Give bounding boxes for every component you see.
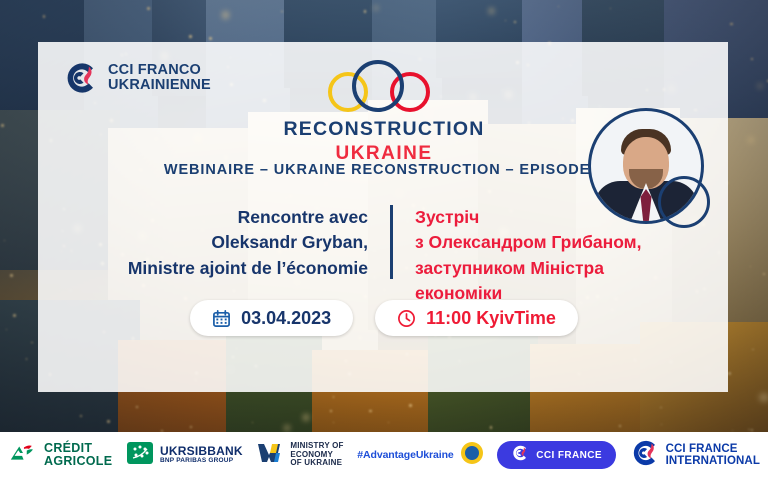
event-meta-pills: 03.04.2023 11:00 KyivTime	[0, 300, 768, 336]
clock-icon	[397, 309, 416, 328]
sponsor-advantage-ukraine[interactable]: #AdvantageUkraine	[357, 441, 483, 470]
sponsor-footer: CRÉDIT AGRICOLE UKRSIBBANK BNP PARIB	[0, 432, 768, 478]
date-label: 03.04.2023	[241, 308, 331, 329]
ukrsibbank-icon	[126, 440, 154, 471]
time-label: 11:00 KyivTime	[426, 308, 556, 329]
three-rings-icon	[324, 58, 444, 112]
calendar-icon	[212, 309, 231, 328]
ring-blue-icon	[352, 60, 404, 112]
ukrsibbank-line2: BNP PARIBAS GROUP	[160, 458, 243, 465]
headline-block: Rencontre avec Oleksandr Gryban, Ministr…	[60, 205, 670, 307]
headline-fr-line1: Rencontre avec	[60, 205, 368, 230]
ministry-of-economy-icon	[256, 440, 284, 471]
sponsor-ukrsibbank[interactable]: UKRSIBBANK BNP PARIBAS GROUP	[126, 440, 243, 471]
headline-french: Rencontre avec Oleksandr Gryban, Ministr…	[60, 205, 390, 307]
cci-france-label: CCI FRANCE	[536, 450, 602, 461]
date-pill[interactable]: 03.04.2023	[190, 300, 353, 336]
speaker-portrait	[588, 108, 704, 224]
cci-intl-line1: CCI FRANCE	[666, 443, 760, 455]
sponsor-cci-france-international[interactable]: CCI FRANCE INTERNATIONAL	[630, 438, 760, 473]
cci-france-international-icon	[630, 438, 660, 473]
ministry-line3: OF UKRAINE	[290, 459, 343, 467]
headline-ua-line3: заступником Міністра економіки	[415, 256, 670, 307]
portrait-accent-circle-icon	[658, 176, 710, 228]
credit-agricole-icon	[8, 441, 38, 470]
sponsor-ministry-of-economy[interactable]: MINISTRY OF ECONOMY OF UKRAINE	[256, 440, 343, 471]
sponsor-credit-agricole[interactable]: CRÉDIT AGRICOLE	[8, 441, 112, 470]
headline-ua-line2: з Олександром Грибаном,	[415, 230, 670, 255]
headline-fr-line3: Ministre ajoint de l’économie	[60, 256, 368, 281]
headline-fr-line2: Oleksandr Gryban,	[60, 230, 368, 255]
sponsor-cci-france[interactable]: CCI FRANCE	[497, 441, 616, 469]
cci-france-icon	[511, 444, 529, 467]
time-pill[interactable]: 11:00 KyivTime	[375, 300, 578, 336]
credit-agricole-line2: AGRICOLE	[44, 455, 112, 468]
advantage-ukraine-icon	[460, 441, 484, 470]
event-banner: CCI FRANCO UKRAINIENNE RECONSTRUCTION UK…	[0, 0, 768, 478]
cci-intl-line2: INTERNATIONAL	[666, 455, 760, 467]
ukrsibbank-line1: UKRSIBBANK	[160, 445, 243, 458]
advantage-ukraine-label: #AdvantageUkraine	[357, 449, 453, 461]
